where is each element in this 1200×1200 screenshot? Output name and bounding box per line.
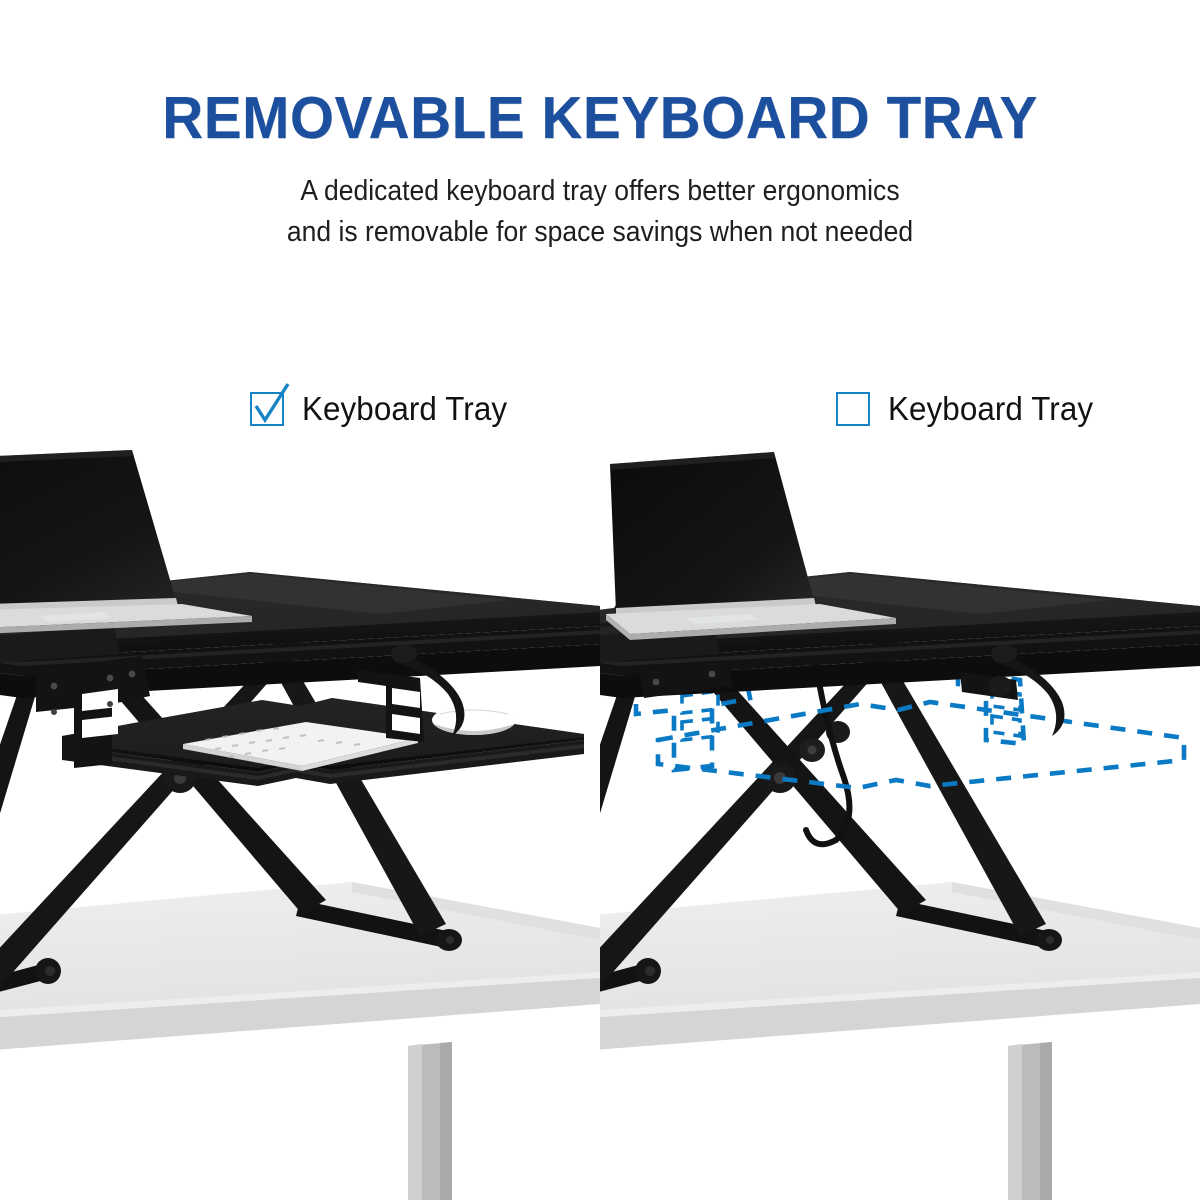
legend-row: Keyboard Tray Keyboard Tray <box>0 383 1200 443</box>
tray-pivot <box>799 738 825 762</box>
legend-label-without-tray: Keyboard Tray <box>888 390 1093 428</box>
subtitle-line-2: and is removable for space savings when … <box>42 212 1158 253</box>
checkmark-icon <box>250 382 294 428</box>
desk-leg <box>408 1042 452 1200</box>
checkbox-unchecked[interactable] <box>836 392 870 426</box>
page-subtitle: A dedicated keyboard tray offers better … <box>42 148 1158 254</box>
desk-leg <box>1008 1042 1052 1200</box>
laptop <box>0 450 252 638</box>
legend-without-tray[interactable]: Keyboard Tray <box>836 383 1104 435</box>
desk <box>600 882 1200 1200</box>
laptop <box>606 452 896 640</box>
product-photo-without-tray <box>600 448 1200 1200</box>
product-photo-panels <box>0 448 1200 1200</box>
illustration-with-tray <box>0 448 600 1200</box>
checkbox-checked[interactable] <box>250 392 284 426</box>
mouse <box>432 702 516 735</box>
page-title: REMOVABLE KEYBOARD TRAY <box>24 0 1176 148</box>
legend-with-tray[interactable]: Keyboard Tray <box>250 383 518 435</box>
header: REMOVABLE KEYBOARD TRAY A dedicated keyb… <box>0 0 1200 254</box>
subtitle-line-1: A dedicated keyboard tray offers better … <box>42 171 1158 212</box>
legend-label-with-tray: Keyboard Tray <box>302 390 507 428</box>
desk <box>0 882 600 1200</box>
infographic-page: { "header": { "title": "REMOVABLE KEYBOA… <box>0 0 1200 1200</box>
illustration-without-tray <box>600 448 1200 1200</box>
product-photo-with-tray <box>0 448 600 1200</box>
